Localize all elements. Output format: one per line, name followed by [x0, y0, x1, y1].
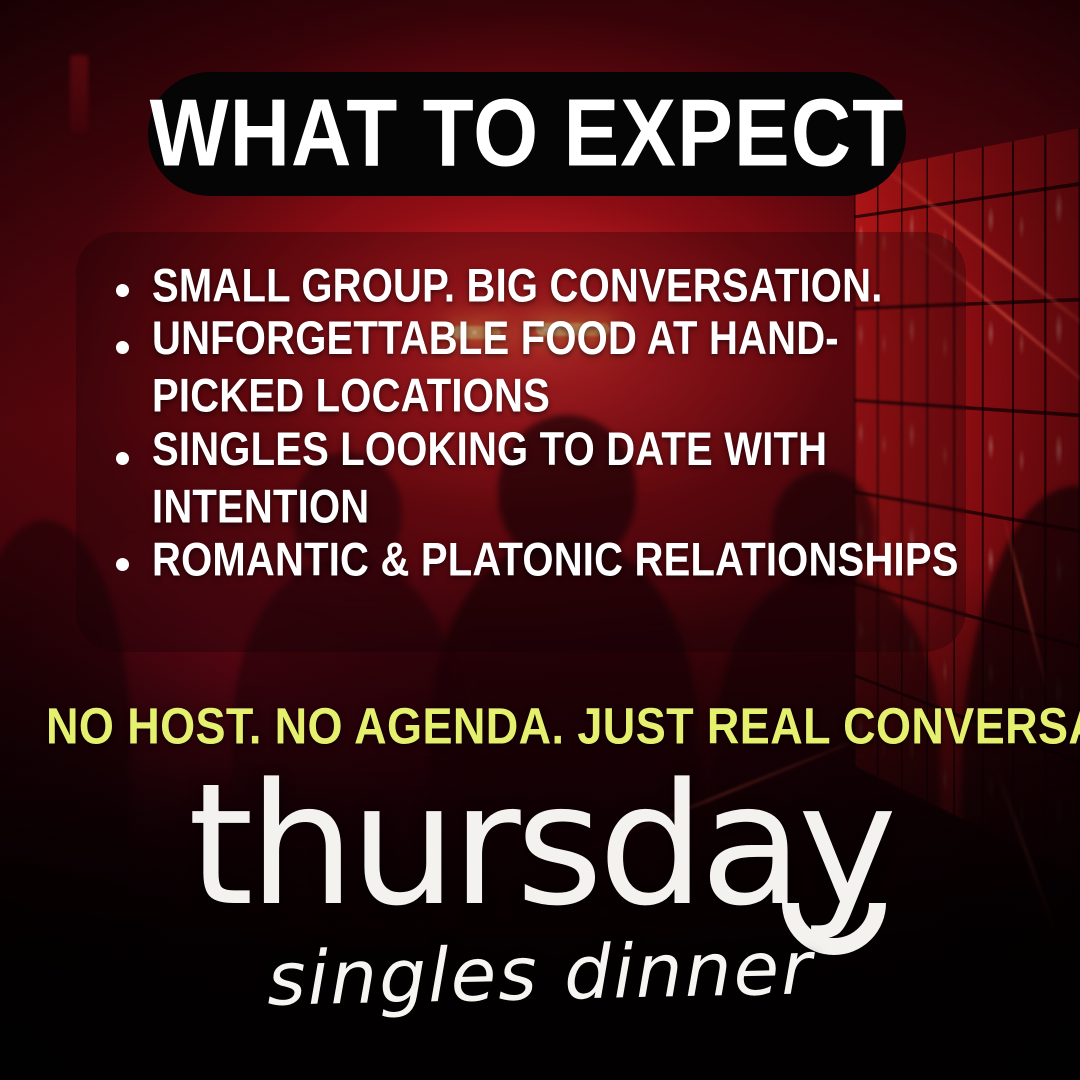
poster-canvas: WHAT TO EXPECT SMALL GROUP. BIG CONVERSA… [0, 0, 1080, 1080]
list-item: SMALL GROUP. BIG CONVERSATION. [108, 262, 988, 311]
brand-wordmark: thursday [188, 768, 892, 923]
brand-wordmark-text: thursday [188, 747, 892, 943]
tagline: NO HOST. NO AGENDA. JUST REAL CONVERSATI… [46, 700, 1036, 751]
expectations-list: SMALL GROUP. BIG CONVERSATION. UNFORGETT… [108, 262, 988, 593]
poster-content: WHAT TO EXPECT SMALL GROUP. BIG CONVERSA… [0, 0, 1080, 1080]
list-item-label: SMALL GROUP. BIG CONVERSATION. [152, 258, 883, 316]
brand-logo: thursday singles dinner [0, 768, 1080, 1011]
brand-subtitle: singles dinner [266, 931, 814, 1016]
page-title: WHAT TO EXPECT [150, 86, 905, 181]
list-item: SINGLES LOOKING TO DATE WITH INTENTION [108, 430, 988, 528]
title-pill: WHAT TO EXPECT [148, 72, 906, 196]
list-item-label: UNFORGETTABLE FOOD AT HAND-PICKED LOCATI… [152, 310, 988, 425]
list-item: ROMANTIC & PLATONIC RELATIONSHIPS [108, 536, 988, 585]
list-item: UNFORGETTABLE FOOD AT HAND-PICKED LOCATI… [108, 319, 988, 417]
list-item-label: SINGLES LOOKING TO DATE WITH INTENTION [152, 422, 988, 537]
list-item-label: ROMANTIC & PLATONIC RELATIONSHIPS [152, 532, 959, 590]
